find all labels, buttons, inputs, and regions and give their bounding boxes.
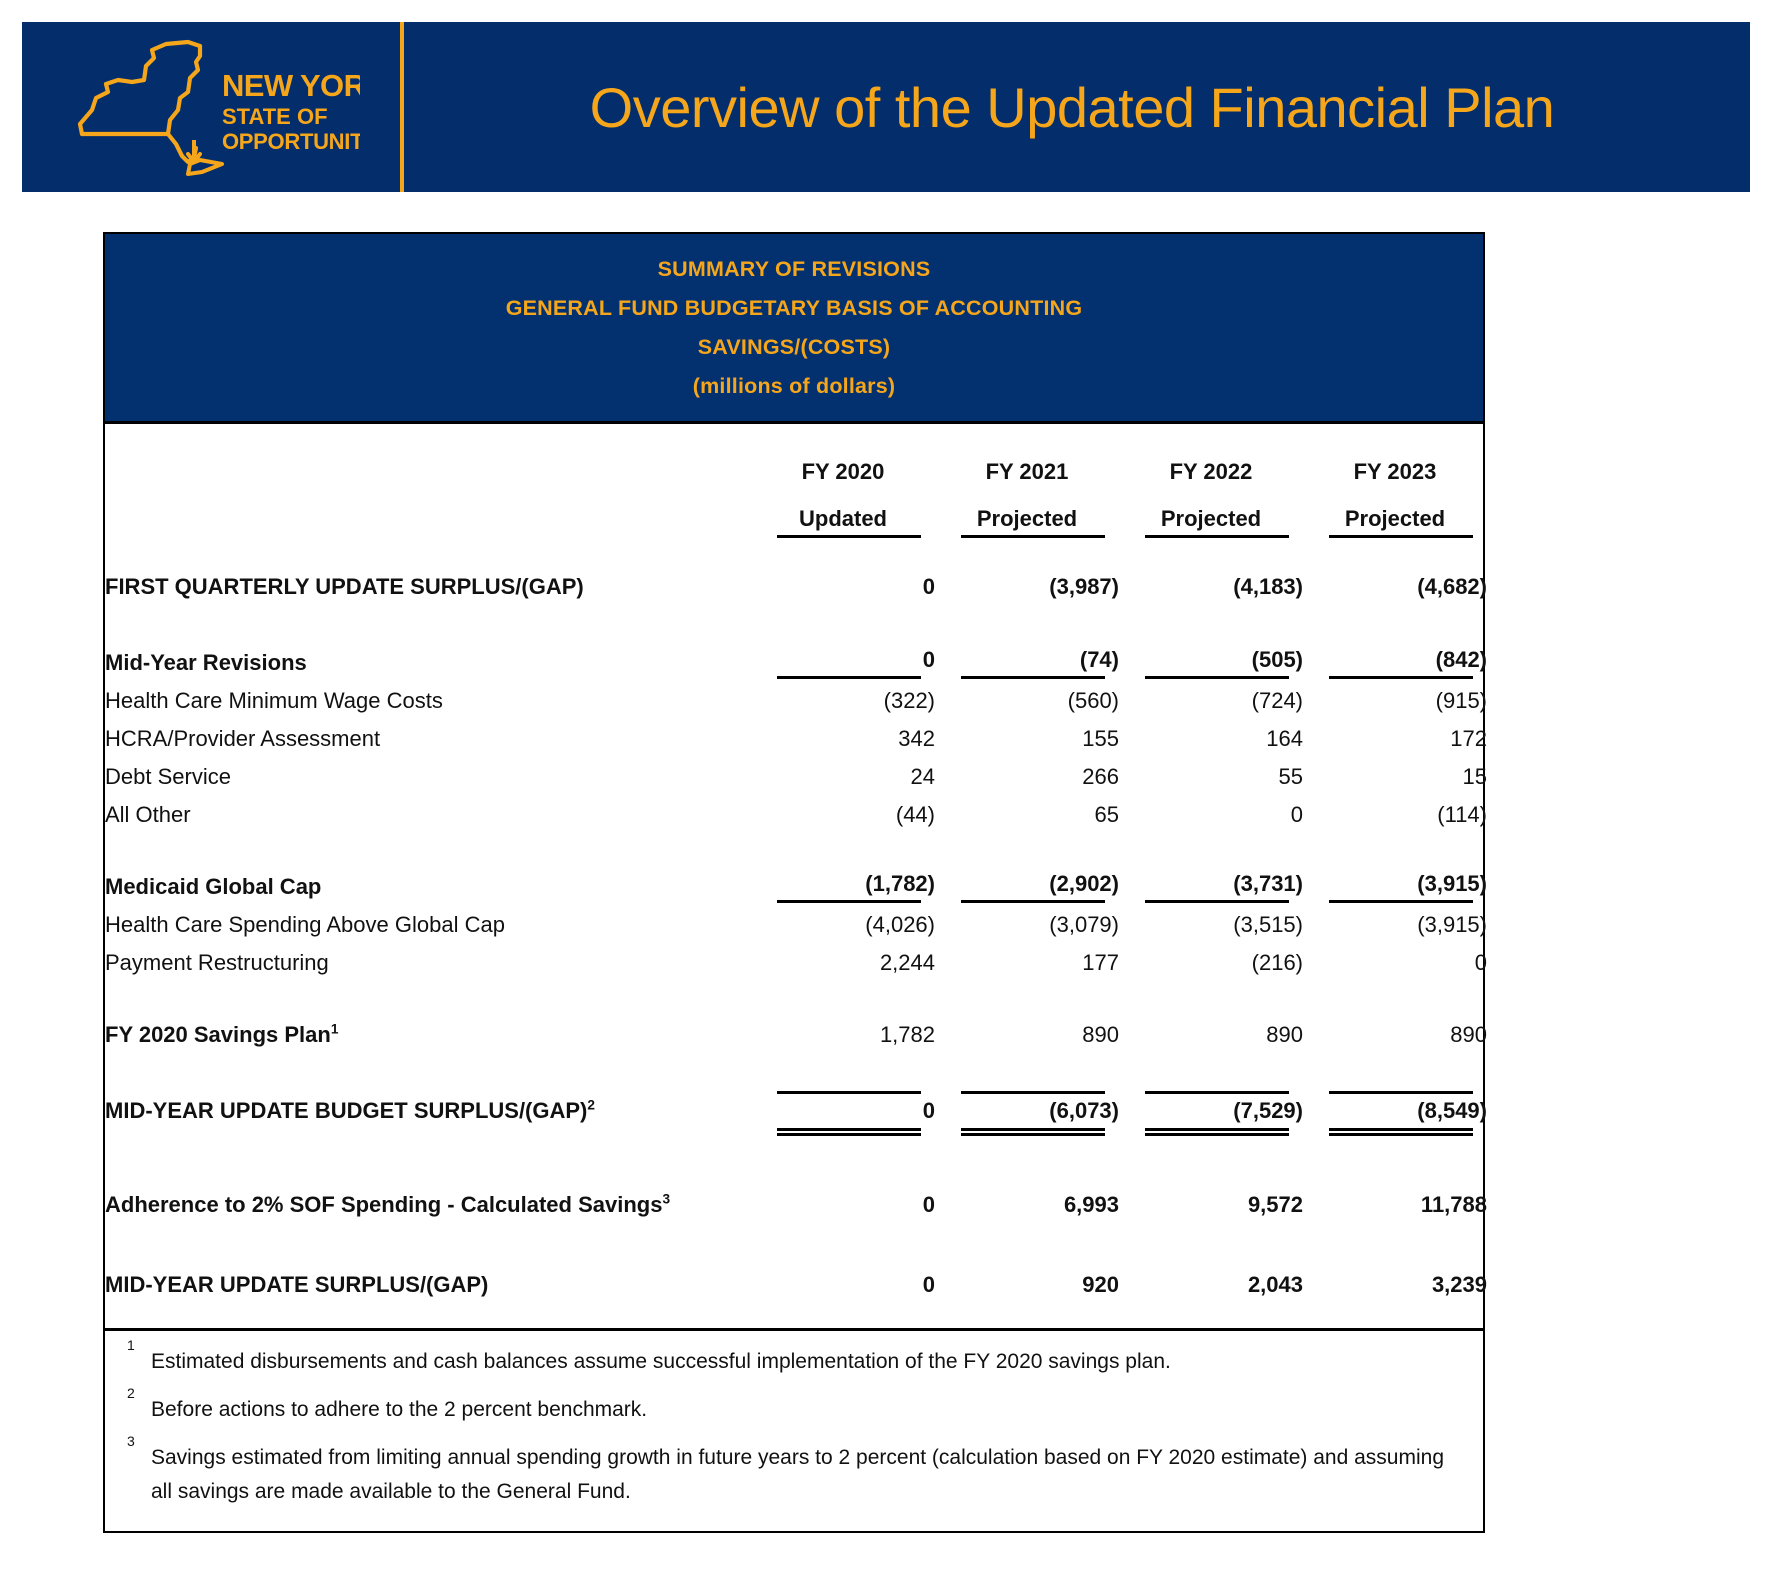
value-text: (3,731) [1233, 871, 1303, 896]
spacer-row-3 [105, 982, 1487, 1016]
cell-mid-year-revisions-fy2022: (505) [1119, 644, 1303, 682]
footnote-1-text: Estimated disbursements and cash balance… [151, 1350, 1171, 1373]
cell-all-other-fy2022: 0 [1119, 796, 1303, 834]
column-header-status-text-0: Updated [799, 506, 887, 531]
cell-first-quarterly-fy2021: (3,987) [935, 564, 1119, 610]
ny-state-outline-icon: NEW YORK STATE OF OPPORTUNITY. [70, 36, 360, 178]
total-rule-double-0 [777, 1128, 921, 1131]
table-row-budget-surplus-gap: MID-YEAR UPDATE BUDGET SURPLUS/(GAP)2 0 … [105, 1088, 1487, 1134]
table-row-first-quarterly: FIRST QUARTERLY UPDATE SURPLUS/(GAP) 0 (… [105, 564, 1487, 610]
slide-header: NEW YORK STATE OF OPPORTUNITY. Overview … [22, 22, 1750, 192]
cell-savings-plan-fy2022: 890 [1119, 1016, 1303, 1054]
value-text: (1,782) [865, 871, 935, 896]
table-header-row-status: Updated Projected Projected Projected [105, 500, 1487, 544]
table-row-savings-plan: FY 2020 Savings Plan1 1,782 890 890 890 [105, 1016, 1487, 1054]
column-rule-3 [1329, 535, 1473, 538]
cell-hcra-provider-fy2020: 342 [751, 720, 935, 758]
row-label-medicaid-global-cap: Medicaid Global Cap [105, 868, 751, 906]
column-header-status-text-3: Projected [1345, 506, 1445, 531]
spacer-row-6 [105, 1228, 1487, 1262]
footnote-2: 2Before actions to adhere to the 2 perce… [127, 1393, 1457, 1427]
cell-medicaid-global-cap-fy2022: (3,731) [1119, 868, 1303, 906]
cell-first-quarterly-fy2020: 0 [751, 564, 935, 610]
cell-medicaid-global-cap-fy2021: (2,902) [935, 868, 1119, 906]
table-row-health-care-min-wage: Health Care Minimum Wage Costs (322) (56… [105, 682, 1487, 720]
cell-mid-year-surplus-gap-fy2020: 0 [751, 1262, 935, 1308]
column-rule-0 [777, 535, 921, 538]
subtotal-rule-3 [1329, 900, 1473, 903]
total-rule-top-3 [1329, 1091, 1473, 1094]
cell-savings-plan-fy2023: 890 [1303, 1016, 1487, 1054]
cell-mid-year-surplus-gap-fy2021: 920 [935, 1262, 1119, 1308]
spacer-cell [105, 834, 1487, 868]
header-blank-cell [105, 424, 751, 500]
row-label-mid-year-revisions: Mid-Year Revisions [105, 644, 751, 682]
logo-line2: STATE OF [222, 104, 328, 129]
cell-hcra-provider-fy2023: 172 [1303, 720, 1487, 758]
spacer-cell [105, 1134, 1487, 1182]
cell-first-quarterly-fy2022: (4,183) [1119, 564, 1303, 610]
row-label-mid-year-surplus-gap: MID-YEAR UPDATE SURPLUS/(GAP) [105, 1262, 751, 1308]
row-label-payment-restructuring: Payment Restructuring [105, 944, 751, 982]
page-title: Overview of the Updated Financial Plan [404, 75, 1750, 140]
subtotal-rule-2 [1145, 676, 1289, 679]
logo-line1: NEW YORK [222, 68, 360, 103]
value-text: (7,529) [1233, 1098, 1303, 1123]
cell-hcra-provider-fy2022: 164 [1119, 720, 1303, 758]
cell-payment-restructuring-fy2023: 0 [1303, 944, 1487, 982]
row-label-text: FY 2020 Savings Plan [105, 1022, 331, 1047]
cell-mid-year-surplus-gap-fy2023: 3,239 [1303, 1262, 1487, 1308]
row-label-budget-surplus-gap: MID-YEAR UPDATE BUDGET SURPLUS/(GAP)2 [105, 1088, 751, 1134]
financial-plan-table-block: SUMMARY OF REVISIONS GENERAL FUND BUDGET… [103, 232, 1485, 1533]
cell-health-care-above-cap-fy2021: (3,079) [935, 906, 1119, 944]
footnote-2-text: Before actions to adhere to the 2 percen… [151, 1398, 647, 1421]
cell-budget-surplus-gap-fy2022: (7,529) [1119, 1088, 1303, 1134]
footnote-marker: 1 [331, 1021, 339, 1036]
cell-adherence-2pct-fy2021: 6,993 [935, 1182, 1119, 1228]
row-label-text: MID-YEAR UPDATE BUDGET SURPLUS/(GAP) [105, 1098, 587, 1123]
cell-all-other-fy2020: (44) [751, 796, 935, 834]
spacer-cell [105, 1228, 1487, 1262]
table-title-line-2: GENERAL FUND BUDGETARY BASIS OF ACCOUNTI… [105, 289, 1483, 328]
row-label-hcra-provider: HCRA/Provider Assessment [105, 720, 751, 758]
spacer-cell [105, 544, 1487, 564]
total-rule-double-3 [1329, 1128, 1473, 1131]
table-row-mid-year-revisions: Mid-Year Revisions 0 (74) (505) (842 [105, 644, 1487, 682]
column-header-status-1: Projected [935, 500, 1119, 544]
cell-debt-service-fy2023: 15 [1303, 758, 1487, 796]
subtotal-rule-1 [961, 900, 1105, 903]
value-text: (2,902) [1049, 871, 1119, 896]
cell-health-care-above-cap-fy2020: (4,026) [751, 906, 935, 944]
footnote-1: 1Estimated disbursements and cash balanc… [127, 1345, 1457, 1379]
table-title-line-4: (millions of dollars) [105, 367, 1483, 406]
footnotes-section: 1Estimated disbursements and cash balanc… [105, 1331, 1483, 1531]
value-text: (3,915) [1417, 871, 1487, 896]
logo-line3: OPPORTUNITY. [222, 129, 360, 154]
column-header-status-0: Updated [751, 500, 935, 544]
cell-all-other-fy2021: 65 [935, 796, 1119, 834]
spacer-cell [105, 610, 1487, 644]
column-rule-1 [961, 535, 1105, 538]
value-text: 0 [923, 647, 935, 672]
cell-mid-year-revisions-fy2020: 0 [751, 644, 935, 682]
value-text: (8,549) [1417, 1098, 1487, 1123]
cell-all-other-fy2023: (114) [1303, 796, 1487, 834]
slide-page: NEW YORK STATE OF OPPORTUNITY. Overview … [0, 0, 1772, 1576]
cell-health-care-min-wage-fy2021: (560) [935, 682, 1119, 720]
spacer-cell [105, 982, 1487, 1016]
cell-payment-restructuring-fy2020: 2,244 [751, 944, 935, 982]
total-rule-double-2 [1145, 1128, 1289, 1131]
column-header-status-text-1: Projected [977, 506, 1077, 531]
cell-mid-year-surplus-gap-fy2022: 2,043 [1119, 1262, 1303, 1308]
spacer-cell [105, 1054, 1487, 1088]
cell-budget-surplus-gap-fy2023: (8,549) [1303, 1088, 1487, 1134]
value-text: (74) [1080, 647, 1119, 672]
cell-health-care-above-cap-fy2022: (3,515) [1119, 906, 1303, 944]
header-blank-cell-2 [105, 500, 751, 544]
cell-adherence-2pct-fy2023: 11,788 [1303, 1182, 1487, 1228]
cell-health-care-above-cap-fy2023: (3,915) [1303, 906, 1487, 944]
subtotal-rule-2 [1145, 900, 1289, 903]
row-label-adherence-2pct: Adherence to 2% SOF Spending - Calculate… [105, 1182, 751, 1228]
subtotal-rule-3 [1329, 676, 1473, 679]
spacer-row-4 [105, 1054, 1487, 1088]
column-header-year-2: FY 2022 [1119, 424, 1303, 500]
column-header-status-3: Projected [1303, 500, 1487, 544]
spacer-row-1 [105, 610, 1487, 644]
table-row-debt-service: Debt Service 24 266 55 15 [105, 758, 1487, 796]
value-text: (842) [1436, 647, 1487, 672]
cell-debt-service-fy2020: 24 [751, 758, 935, 796]
spacer-row-0 [105, 544, 1487, 564]
cell-mid-year-revisions-fy2023: (842) [1303, 644, 1487, 682]
new-york-state-of-opportunity-logo: NEW YORK STATE OF OPPORTUNITY. [70, 35, 370, 180]
value-text: (6,073) [1049, 1098, 1119, 1123]
table-title: SUMMARY OF REVISIONS GENERAL FUND BUDGET… [105, 234, 1483, 421]
table-title-line-1: SUMMARY OF REVISIONS [105, 250, 1483, 289]
column-header-year-1: FY 2021 [935, 424, 1119, 500]
cell-debt-service-fy2022: 55 [1119, 758, 1303, 796]
spacer-cell [105, 1308, 1487, 1328]
table-row-medicaid-global-cap: Medicaid Global Cap (1,782) (2,902) (3,7… [105, 868, 1487, 906]
row-label-first-quarterly: FIRST QUARTERLY UPDATE SURPLUS/(GAP) [105, 564, 751, 610]
table-row-health-care-above-cap: Health Care Spending Above Global Cap (4… [105, 906, 1487, 944]
cell-hcra-provider-fy2021: 155 [935, 720, 1119, 758]
cell-health-care-min-wage-fy2022: (724) [1119, 682, 1303, 720]
row-label-health-care-above-cap: Health Care Spending Above Global Cap [105, 906, 751, 944]
spacer-row-2 [105, 834, 1487, 868]
footnote-3: 3Savings estimated from limiting annual … [127, 1441, 1457, 1509]
subtotal-rule-1 [961, 676, 1105, 679]
cell-health-care-min-wage-fy2023: (915) [1303, 682, 1487, 720]
total-rule-top-1 [961, 1091, 1105, 1094]
cell-health-care-min-wage-fy2020: (322) [751, 682, 935, 720]
footnote-marker: 3 [662, 1191, 670, 1206]
table-title-line-3: SAVINGS/(COSTS) [105, 328, 1483, 367]
footnote-marker: 2 [587, 1097, 595, 1112]
cell-debt-service-fy2021: 266 [935, 758, 1119, 796]
row-label-text: Adherence to 2% SOF Spending - Calculate… [105, 1192, 662, 1217]
row-label-health-care-min-wage: Health Care Minimum Wage Costs [105, 682, 751, 720]
table-row-mid-year-surplus-gap: MID-YEAR UPDATE SURPLUS/(GAP) 0 920 2,04… [105, 1262, 1487, 1308]
row-label-savings-plan: FY 2020 Savings Plan1 [105, 1016, 751, 1054]
cell-first-quarterly-fy2023: (4,682) [1303, 564, 1487, 610]
table-row-adherence-2pct: Adherence to 2% SOF Spending - Calculate… [105, 1182, 1487, 1228]
table-header-row-year: FY 2020 FY 2021 FY 2022 FY 2023 [105, 424, 1487, 500]
spacer-row-7 [105, 1308, 1487, 1328]
column-header-year-3: FY 2023 [1303, 424, 1487, 500]
subtotal-rule-0 [777, 900, 921, 903]
cell-payment-restructuring-fy2022: (216) [1119, 944, 1303, 982]
cell-adherence-2pct-fy2022: 9,572 [1119, 1182, 1303, 1228]
column-header-status-2: Projected [1119, 500, 1303, 544]
row-label-debt-service: Debt Service [105, 758, 751, 796]
cell-savings-plan-fy2020: 1,782 [751, 1016, 935, 1054]
cell-adherence-2pct-fy2020: 0 [751, 1182, 935, 1228]
table-row-payment-restructuring: Payment Restructuring 2,244 177 (216) 0 [105, 944, 1487, 982]
cell-budget-surplus-gap-fy2020: 0 [751, 1088, 935, 1134]
total-rule-top-2 [1145, 1091, 1289, 1094]
cell-medicaid-global-cap-fy2023: (3,915) [1303, 868, 1487, 906]
value-text: 0 [923, 1098, 935, 1123]
spacer-row-5 [105, 1134, 1487, 1182]
cell-mid-year-revisions-fy2021: (74) [935, 644, 1119, 682]
column-rule-2 [1145, 535, 1289, 538]
cell-budget-surplus-gap-fy2021: (6,073) [935, 1088, 1119, 1134]
column-header-year-0: FY 2020 [751, 424, 935, 500]
table-row-all-other: All Other (44) 65 0 (114) [105, 796, 1487, 834]
cell-medicaid-global-cap-fy2020: (1,782) [751, 868, 935, 906]
total-rule-top-0 [777, 1091, 921, 1094]
total-rule-double-1 [961, 1128, 1105, 1131]
row-label-all-other: All Other [105, 796, 751, 834]
summary-of-revisions-table: FY 2020 FY 2021 FY 2022 FY 2023 Updated … [105, 424, 1487, 1328]
footnote-3-text: Savings estimated from limiting annual s… [151, 1446, 1444, 1503]
table-row-hcra-provider: HCRA/Provider Assessment 342 155 164 172 [105, 720, 1487, 758]
cell-payment-restructuring-fy2021: 177 [935, 944, 1119, 982]
value-text: (505) [1252, 647, 1303, 672]
subtotal-rule-0 [777, 676, 921, 679]
cell-savings-plan-fy2021: 890 [935, 1016, 1119, 1054]
column-header-status-text-2: Projected [1161, 506, 1261, 531]
